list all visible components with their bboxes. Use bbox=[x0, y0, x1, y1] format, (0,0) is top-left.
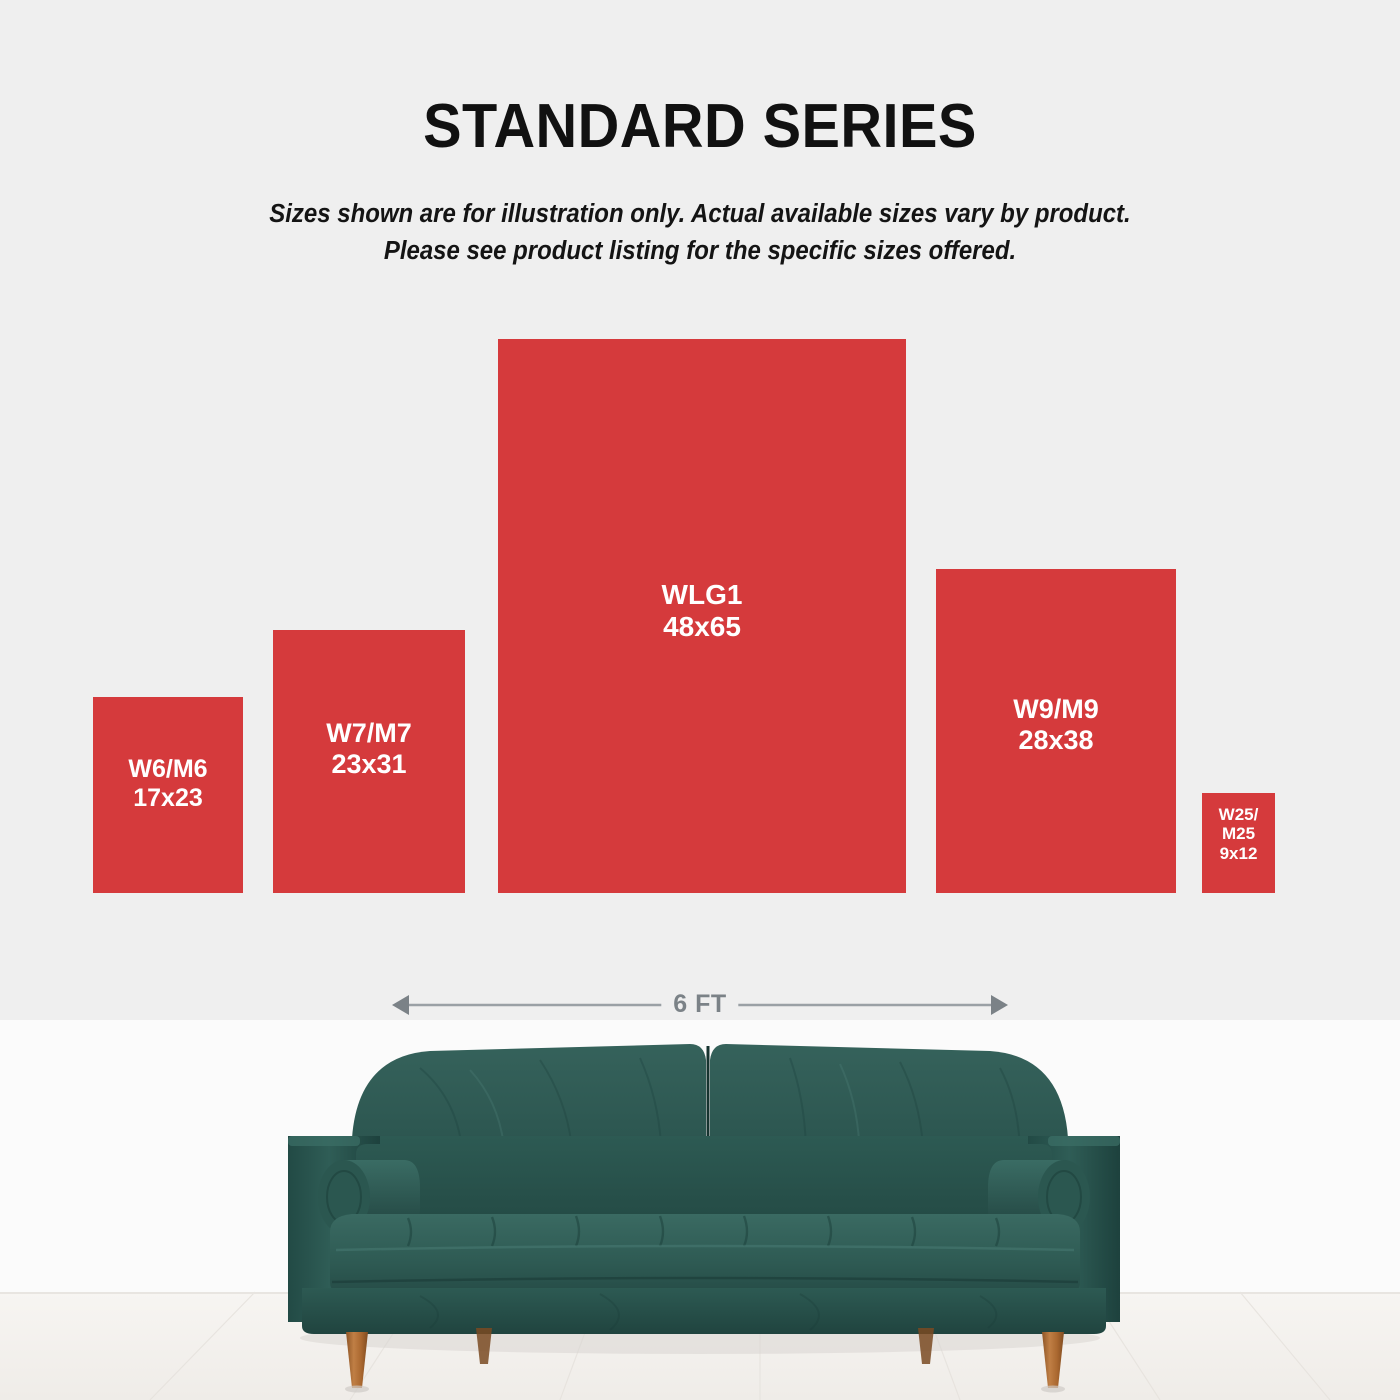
subtitle-line-2: Please see product listing for the speci… bbox=[42, 233, 1358, 270]
measurement-label: 6 FT bbox=[661, 990, 738, 1020]
frame-wlg1[interactable]: WLG1 48x65 bbox=[498, 339, 906, 893]
frame-w25-m25-name-2: M25 bbox=[1222, 824, 1255, 843]
size-chart-infographic: STANDARD SERIES Sizes shown are for illu… bbox=[0, 0, 1400, 1400]
frame-w7-m7-size: 23x31 bbox=[331, 749, 406, 780]
measurement-indicator: 6 FT bbox=[392, 986, 1008, 1024]
header: STANDARD SERIES Sizes shown are for illu… bbox=[0, 0, 1400, 271]
frame-w6-m6[interactable]: W6/M6 17x23 bbox=[93, 697, 243, 893]
arrow-right-icon bbox=[991, 995, 1008, 1015]
frame-w25-m25-size: 9x12 bbox=[1220, 844, 1258, 863]
frame-wlg1-size: 48x65 bbox=[663, 611, 741, 643]
subtitle-line-1: Sizes shown are for illustration only. A… bbox=[42, 196, 1358, 233]
frame-w9-m9-size: 28x38 bbox=[1018, 725, 1093, 756]
frame-w6-m6-name: W6/M6 bbox=[128, 755, 207, 784]
frame-w9-m9-name: W9/M9 bbox=[1013, 694, 1099, 725]
frame-w7-m7[interactable]: W7/M7 23x31 bbox=[273, 630, 465, 893]
arrow-left-icon bbox=[392, 995, 409, 1015]
frame-w25-m25-name: W25/ bbox=[1219, 805, 1259, 824]
frame-w25-m25[interactable]: W25/ M25 9x12 bbox=[1202, 793, 1275, 893]
frame-w7-m7-name: W7/M7 bbox=[326, 718, 412, 749]
frame-wlg1-name: WLG1 bbox=[662, 579, 743, 611]
frame-w6-m6-size: 17x23 bbox=[133, 784, 203, 813]
page-title: STANDARD SERIES bbox=[49, 96, 1351, 158]
subtitle: Sizes shown are for illustration only. A… bbox=[42, 196, 1358, 271]
frame-w9-m9[interactable]: W9/M9 28x38 bbox=[936, 569, 1176, 893]
